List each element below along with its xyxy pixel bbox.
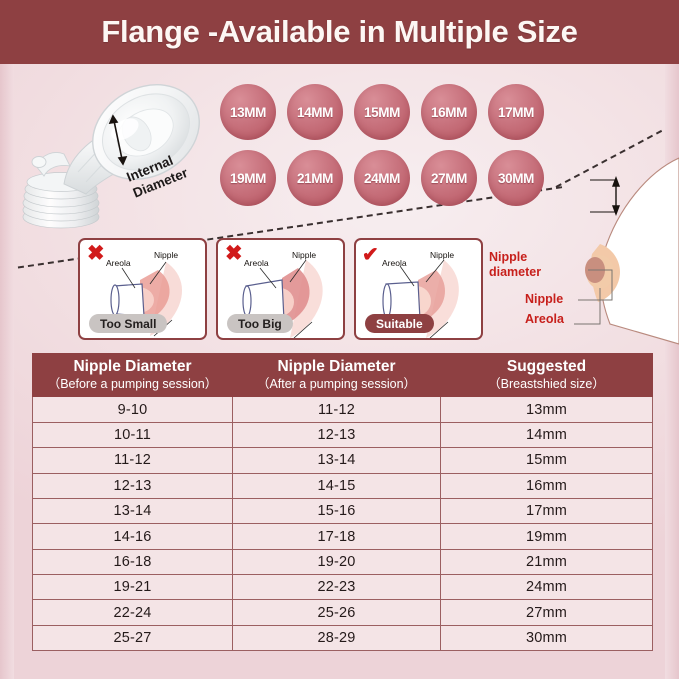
fit-panel-too-small: ✖ Areola Nipple Too Small <box>78 238 207 340</box>
cell-before: 12-13 <box>33 473 233 498</box>
nipple-label: Nipple <box>430 250 454 260</box>
cell-suggested: 24mm <box>441 575 653 600</box>
check-icon: ✔ <box>362 245 379 265</box>
size-badge-label: 21MM <box>297 171 333 186</box>
nipple-label: Nipple <box>292 250 316 260</box>
column-header-sub: （After a pumping session） <box>235 377 438 392</box>
flange-product-illustration: Internal Diameter <box>6 72 218 232</box>
cell-suggested: 30mm <box>441 625 653 650</box>
cell-before: 13-14 <box>33 498 233 523</box>
cell-suggested: 14mm <box>441 422 653 447</box>
table-row: 22-24 25-26 27mm <box>33 600 653 625</box>
cell-suggested: 16mm <box>441 473 653 498</box>
cell-after: 19-20 <box>233 549 441 574</box>
column-header-sub: （Before a pumping session） <box>35 377 230 392</box>
cell-before: 16-18 <box>33 549 233 574</box>
areola-label: Areola <box>244 258 269 268</box>
size-badge[interactable]: 30MM <box>488 150 544 206</box>
column-header-main: Nipple Diameter <box>235 358 438 376</box>
cell-before: 19-21 <box>33 575 233 600</box>
infographic-page: Flange -Available in Multiple Size <box>0 0 679 679</box>
cell-suggested: 21mm <box>441 549 653 574</box>
fit-panel-caption: Suitable <box>365 314 434 333</box>
fit-panel-too-big: ✖ Areola Nipple Too Big <box>216 238 345 340</box>
cell-before: 22-24 <box>33 600 233 625</box>
table-row: 10-11 12-13 14mm <box>33 422 653 447</box>
cell-before: 25-27 <box>33 625 233 650</box>
size-badge-label: 19MM <box>230 171 266 186</box>
nipple-diameter-line2: diameter <box>489 265 541 280</box>
cell-suggested: 27mm <box>441 600 653 625</box>
cell-suggested: 13mm <box>441 397 653 422</box>
table-row: 9-10 11-12 13mm <box>33 397 653 422</box>
column-header-main: Nipple Diameter <box>35 358 230 376</box>
fit-comparison-panels: ✖ Areola Nipple Too Small ✖ <box>78 238 484 340</box>
cell-suggested: 19mm <box>441 524 653 549</box>
size-badge[interactable]: 19MM <box>220 150 276 206</box>
size-badge-label: 27MM <box>431 171 467 186</box>
column-header-suggested: Suggested （Breastshied size） <box>441 354 653 397</box>
size-badge[interactable]: 15MM <box>354 84 410 140</box>
column-header-before: Nipple Diameter （Before a pumping sessio… <box>33 354 233 397</box>
table-row: 13-14 15-16 17mm <box>33 498 653 523</box>
table-row: 16-18 19-20 21mm <box>33 549 653 574</box>
table-header-row: Nipple Diameter （Before a pumping sessio… <box>33 354 653 397</box>
flange-svg <box>6 72 218 232</box>
size-badge[interactable]: 21MM <box>287 150 343 206</box>
cell-suggested: 15mm <box>441 448 653 473</box>
cell-after: 14-15 <box>233 473 441 498</box>
header-banner: Flange -Available in Multiple Size <box>0 0 679 64</box>
size-badge-row-1: 13MM 14MM 15MM 16MM 17MM <box>220 84 568 140</box>
nipple-diameter-line1: Nipple <box>489 250 541 265</box>
size-badge-label: 15MM <box>364 105 400 120</box>
cell-after: 22-23 <box>233 575 441 600</box>
size-chart-table: Nipple Diameter （Before a pumping sessio… <box>32 353 653 651</box>
breast-anatomy-svg <box>556 148 679 348</box>
cross-icon: ✖ <box>87 243 105 264</box>
cell-after: 12-13 <box>233 422 441 447</box>
size-badge[interactable]: 17MM <box>488 84 544 140</box>
table-row: 12-13 14-15 16mm <box>33 473 653 498</box>
size-badge[interactable]: 14MM <box>287 84 343 140</box>
size-badge[interactable]: 16MM <box>421 84 477 140</box>
cell-before: 9-10 <box>33 397 233 422</box>
cell-before: 10-11 <box>33 422 233 447</box>
fit-panel-suitable: ✔ Areola Nipple Suitable <box>354 238 483 340</box>
size-badge-label: 16MM <box>431 105 467 120</box>
column-header-sub: （Breastshied size） <box>443 377 650 392</box>
nipple-label: Nipple <box>154 250 178 260</box>
cell-after: 13-14 <box>233 448 441 473</box>
cell-before: 14-16 <box>33 524 233 549</box>
fit-panel-caption: Too Big <box>227 314 293 333</box>
cross-icon: ✖ <box>225 243 243 264</box>
table-row: 14-16 17-18 19mm <box>33 524 653 549</box>
column-header-after: Nipple Diameter （After a pumping session… <box>233 354 441 397</box>
size-badge[interactable]: 27MM <box>421 150 477 206</box>
column-header-main: Suggested <box>443 358 650 376</box>
cell-after: 15-16 <box>233 498 441 523</box>
cell-suggested: 17mm <box>441 498 653 523</box>
size-badge-row-2: 19MM 21MM 24MM 27MM 30MM <box>220 150 568 206</box>
size-badge-label: 17MM <box>498 105 534 120</box>
table-row: 11-12 13-14 15mm <box>33 448 653 473</box>
nipple-diameter-annotation: Nipple diameter <box>489 250 541 280</box>
size-badge-grid: 13MM 14MM 15MM 16MM 17MM 19MM 21MM 24MM … <box>220 84 568 208</box>
areola-label: Areola <box>106 258 131 268</box>
size-badge-label: 14MM <box>297 105 333 120</box>
nipple-annotation: Nipple <box>525 292 563 307</box>
areola-label: Areola <box>382 258 407 268</box>
size-badge-label: 24MM <box>364 171 400 186</box>
cell-after: 11-12 <box>233 397 441 422</box>
cell-after: 25-26 <box>233 600 441 625</box>
areola-annotation: Areola <box>525 312 564 327</box>
cell-after: 17-18 <box>233 524 441 549</box>
size-badge[interactable]: 13MM <box>220 84 276 140</box>
page-title: Flange -Available in Multiple Size <box>101 14 577 50</box>
table-row: 25-27 28-29 30mm <box>33 625 653 650</box>
cell-before: 11-12 <box>33 448 233 473</box>
table-row: 19-21 22-23 24mm <box>33 575 653 600</box>
fit-panel-caption: Too Small <box>89 314 167 333</box>
size-badge-label: 13MM <box>230 105 266 120</box>
size-badge[interactable]: 24MM <box>354 150 410 206</box>
cell-after: 28-29 <box>233 625 441 650</box>
size-badge-label: 30MM <box>498 171 534 186</box>
breast-anatomy-diagram <box>556 148 679 348</box>
